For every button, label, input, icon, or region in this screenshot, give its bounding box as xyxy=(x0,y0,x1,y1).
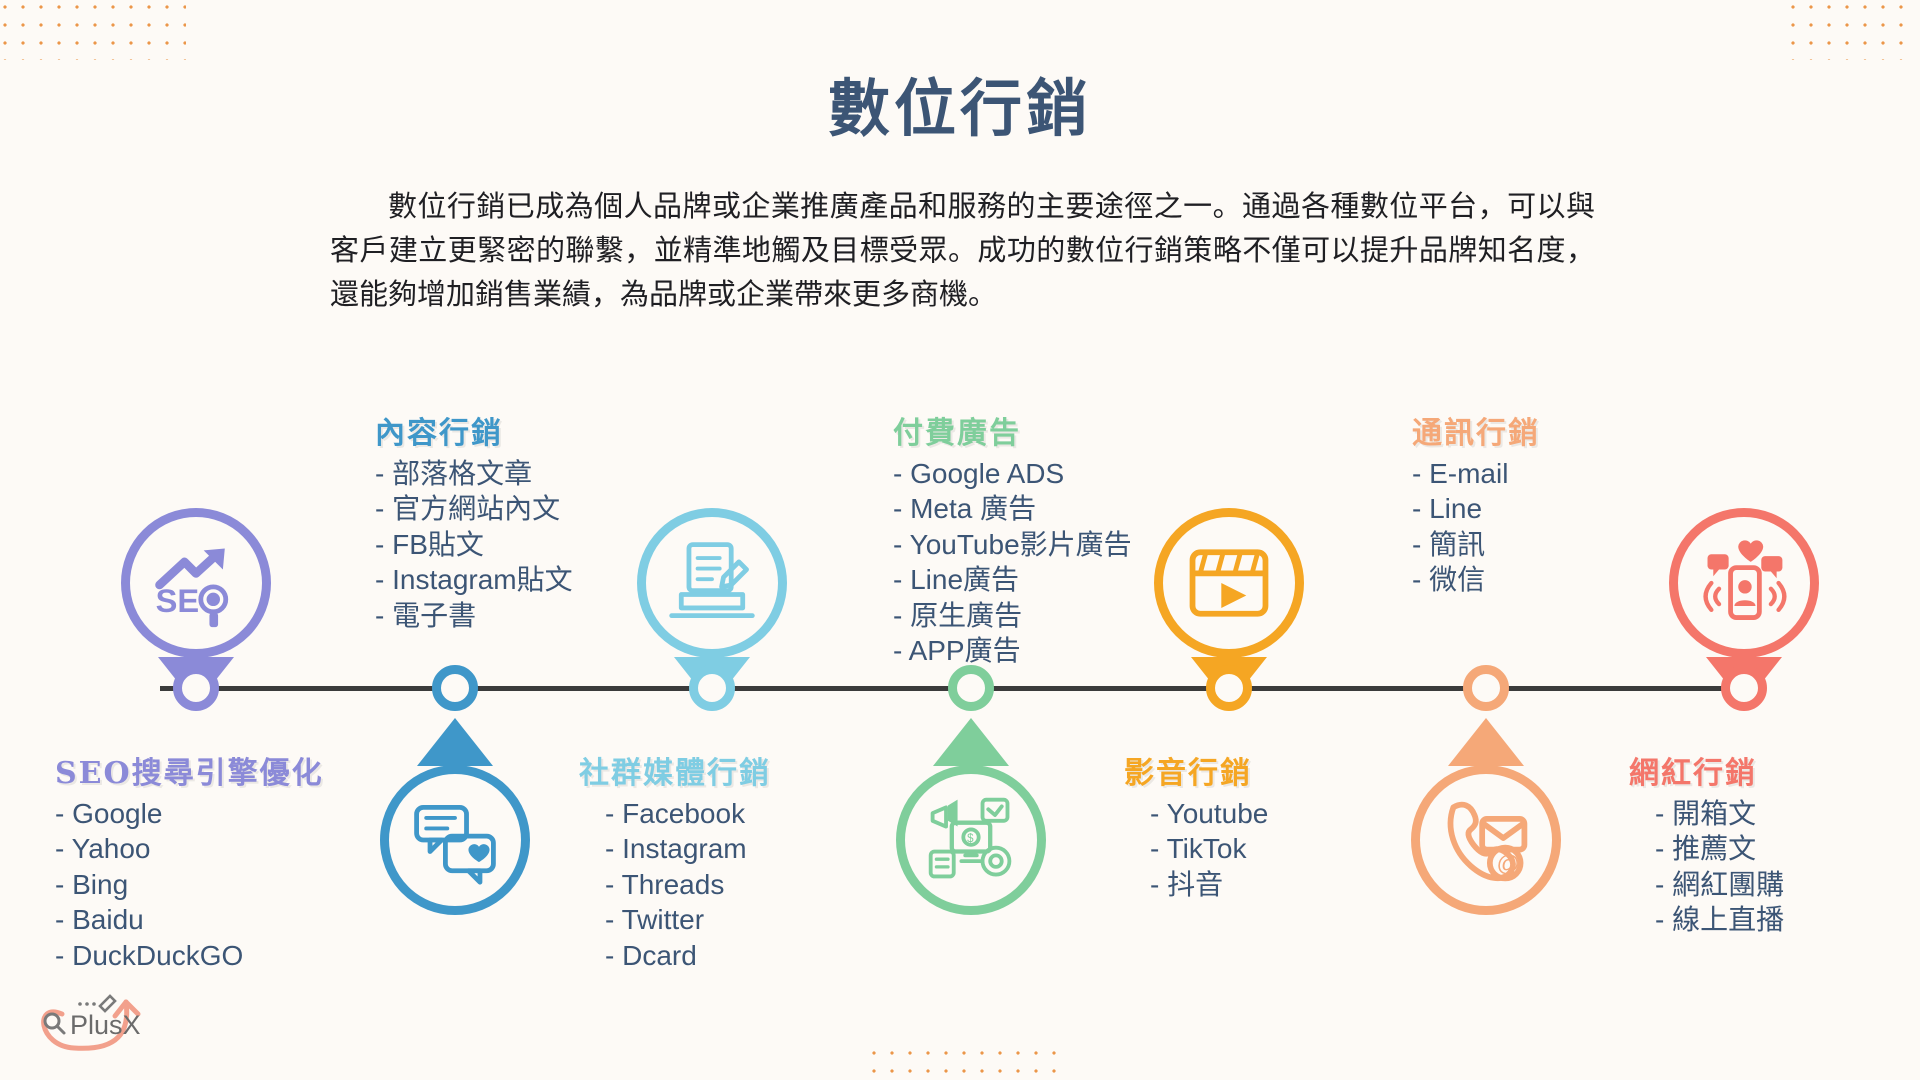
list-item: 電子書 xyxy=(375,598,573,633)
list-item: FB貼文 xyxy=(375,527,573,562)
marketing-block-seo: SEO搜尋引擎優化 GoogleYahooBingBaiduDuckDuckGO xyxy=(55,748,324,973)
list-item: 線上直播 xyxy=(1655,902,1784,937)
list-item: Threads xyxy=(605,867,771,902)
timeline-pin-video[interactable] xyxy=(1154,508,1304,658)
list-item: Youtube xyxy=(1150,796,1268,831)
ads-megaphone-monitor-icon: $ xyxy=(923,792,1019,888)
timeline-node-seo[interactable] xyxy=(173,665,219,711)
block-list-messaging: E-mailLine簡訊微信 xyxy=(1412,456,1540,598)
block-list-video: YoutubeTikTok抖音 xyxy=(1150,796,1268,902)
pin-tail xyxy=(417,718,493,766)
marketing-block-content: 內容行銷 部落格文章官方網站內文FB貼文Instagram貼文電子書 xyxy=(375,408,573,633)
block-heading-messaging: 通訊行銷 xyxy=(1412,408,1540,452)
list-item: Dcard xyxy=(605,938,771,973)
list-item: 推薦文 xyxy=(1655,831,1784,866)
timeline-pin-seo[interactable]: SE xyxy=(121,508,271,658)
list-item: E-mail xyxy=(1412,456,1540,491)
seo-chart-magnifier-icon: SE xyxy=(148,535,244,631)
block-heading-social: 社群媒體行銷 xyxy=(579,748,771,792)
marketing-block-paidads: 付費廣告 Google ADSMeta 廣告YouTube影片廣告Line廣告原… xyxy=(893,408,1132,668)
list-item: 官方網站內文 xyxy=(375,491,573,526)
list-item: Line xyxy=(1412,491,1540,526)
marketing-block-social: 社群媒體行銷 FacebookInstagramThreadsTwitterDc… xyxy=(605,748,771,973)
list-item: TikTok xyxy=(1150,831,1268,866)
brand-logo: PlusX xyxy=(22,984,172,1064)
list-item: Instagram貼文 xyxy=(375,562,573,597)
list-item: Twitter xyxy=(605,902,771,937)
list-item: 簡訊 xyxy=(1412,527,1540,562)
block-list-content: 部落格文章官方網站內文FB貼文Instagram貼文電子書 xyxy=(375,456,573,633)
timeline-pin-content[interactable] xyxy=(380,765,530,915)
list-item: DuckDuckGO xyxy=(55,938,324,973)
list-item: Bing xyxy=(55,867,324,902)
list-item: APP廣告 xyxy=(893,633,1132,668)
intro-paragraph: 數位行銷已成為個人品牌或企業推廣產品和服務的主要途徑之一。通過各種數位平台，可以… xyxy=(330,184,1595,316)
list-item: 抖音 xyxy=(1150,867,1268,902)
marketing-block-messaging: 通訊行銷 E-mailLine簡訊微信 xyxy=(1412,408,1540,598)
block-heading-content: 內容行銷 xyxy=(375,408,573,452)
list-item: Line廣告 xyxy=(893,562,1132,597)
block-list-social: FacebookInstagramThreadsTwitterDcard xyxy=(605,796,771,973)
list-item: 開箱文 xyxy=(1655,796,1784,831)
dot-pattern-bottom xyxy=(865,1044,1060,1080)
dot-pattern-top-right xyxy=(1784,0,1914,60)
svg-text:$: $ xyxy=(967,833,974,845)
timeline-pin-messaging[interactable]: @ xyxy=(1411,765,1561,915)
svg-text:@: @ xyxy=(1497,851,1520,877)
block-list-paidads: Google ADSMeta 廣告YouTube影片廣告Line廣告原生廣告AP… xyxy=(893,456,1132,668)
page-title: 數位行銷 xyxy=(0,58,1920,148)
block-list-seo: GoogleYahooBingBaiduDuckDuckGO xyxy=(55,796,324,973)
timeline-node-content[interactable] xyxy=(432,665,478,711)
list-item: Yahoo xyxy=(55,831,324,866)
list-item: 微信 xyxy=(1412,562,1540,597)
list-item: Instagram xyxy=(605,831,771,866)
smartphone-live-hearts-icon xyxy=(1696,535,1792,631)
chat-bubbles-heart-icon xyxy=(407,792,503,888)
block-heading-influencer: 網紅行銷 xyxy=(1629,748,1784,792)
timeline-node-paidads[interactable] xyxy=(948,665,994,711)
timeline-pin-social[interactable] xyxy=(637,508,787,658)
timeline-node-influencer[interactable] xyxy=(1721,665,1767,711)
video-player-clapperboard-icon xyxy=(1181,535,1277,631)
laptop-document-pen-icon xyxy=(664,535,760,631)
block-heading-seo: SEO搜尋引擎優化 xyxy=(55,748,324,792)
timeline-node-social[interactable] xyxy=(689,665,735,711)
pin-tail xyxy=(1448,718,1524,766)
list-item: Facebook xyxy=(605,796,771,831)
marketing-block-video: 影音行銷 YoutubeTikTok抖音 xyxy=(1150,748,1268,902)
svg-text:SE: SE xyxy=(156,582,200,619)
list-item: Baidu xyxy=(55,902,324,937)
timeline-node-video[interactable] xyxy=(1206,665,1252,711)
list-item: Google ADS xyxy=(893,456,1132,491)
block-list-influencer: 開箱文推薦文網紅團購線上直播 xyxy=(1655,796,1784,938)
list-item: Meta 廣告 xyxy=(893,491,1132,526)
list-item: YouTube影片廣告 xyxy=(893,527,1132,562)
list-item: 網紅團購 xyxy=(1655,867,1784,902)
dot-pattern-top-left xyxy=(0,0,186,60)
timeline-pin-paidads[interactable]: $ xyxy=(896,765,1046,915)
pin-tail xyxy=(933,718,1009,766)
list-item: 原生廣告 xyxy=(893,598,1132,633)
block-heading-video: 影音行銷 xyxy=(1124,748,1268,792)
logo-wordmark: PlusX xyxy=(70,1010,141,1041)
block-heading-paidads: 付費廣告 xyxy=(893,408,1132,452)
list-item: Google xyxy=(55,796,324,831)
timeline-node-messaging[interactable] xyxy=(1463,665,1509,711)
list-item: 部落格文章 xyxy=(375,456,573,491)
timeline-pin-influencer[interactable] xyxy=(1669,508,1819,658)
marketing-block-influencer: 網紅行銷 開箱文推薦文網紅團購線上直播 xyxy=(1655,748,1784,938)
phone-envelope-at-icon: @ xyxy=(1438,792,1534,888)
